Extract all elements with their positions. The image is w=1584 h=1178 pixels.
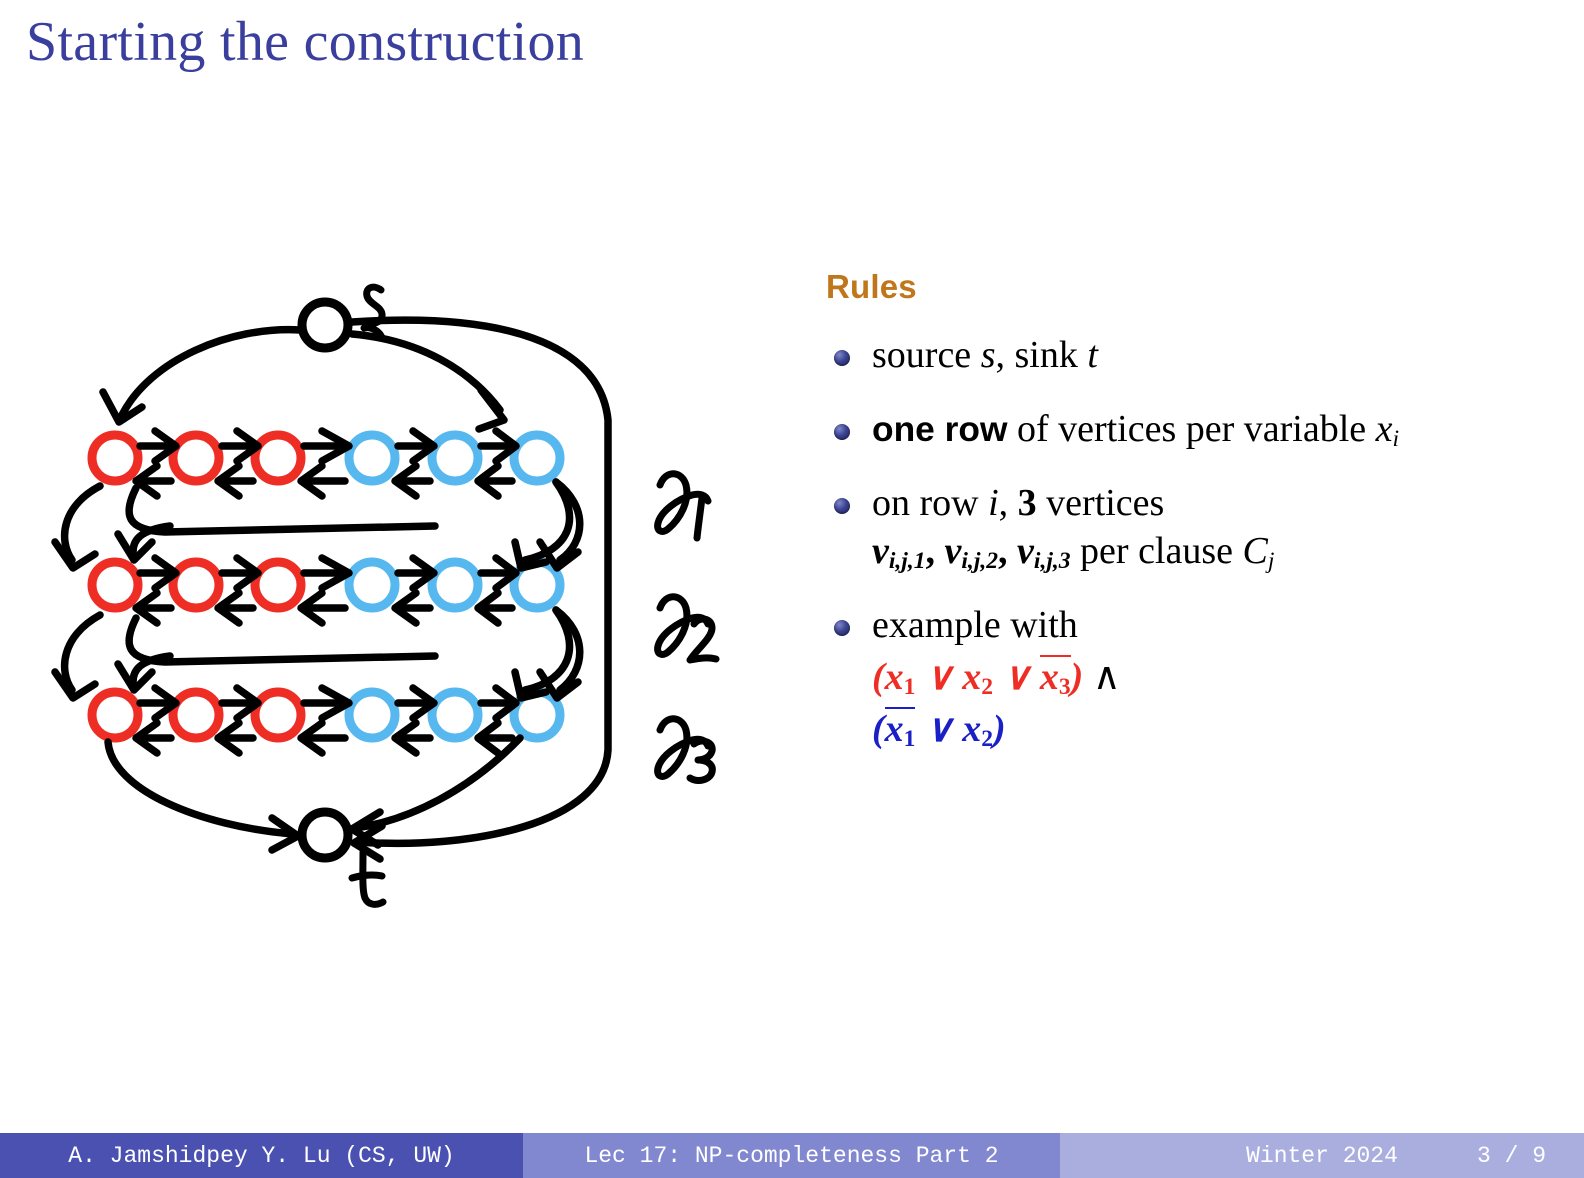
rule-text-one-row-rest: of vertices per variable	[1007, 408, 1375, 450]
symbol-v-1-subscript: i,j,1	[889, 548, 926, 574]
row-label-x3	[658, 719, 713, 781]
rule-item-one-row: one row of vertices per variable xi	[872, 406, 1506, 455]
rule-count-three: 3	[1018, 482, 1037, 524]
symbol-x: x	[1376, 408, 1393, 450]
formula-x2-b-subscript: 2	[981, 727, 993, 753]
edge-row1-to-row2-left-inner	[118, 488, 435, 560]
symbol-v-2-subscript: i,j,2	[961, 548, 998, 574]
row-3	[92, 688, 560, 753]
vertex-r1-c3	[255, 435, 301, 481]
formula-x1-neg-subscript: 1	[904, 727, 916, 753]
symbol-v-3-subscript: i,j,3	[1034, 548, 1071, 574]
rule-item-row-vertices: on row i, 3 vertices vi,j,1, vi,j,2, vi,…	[872, 480, 1506, 576]
formula-clause-1: (x1 ∨ x2 ∨ x3) ∧	[872, 654, 1506, 703]
footer-authors: A. Jamshidpey Y. Lu (CS, UW)	[0, 1133, 523, 1178]
row-label-x1	[658, 474, 708, 538]
rule-text-example-lead: example with	[872, 604, 1078, 646]
rule-sep-2: ,	[998, 530, 1017, 572]
source-label	[364, 287, 382, 338]
bullet-icon	[834, 620, 850, 636]
row-2	[92, 558, 560, 623]
vertex-r3-c5	[432, 692, 478, 738]
bullet-icon	[834, 498, 850, 514]
footer-right-section: Winter 2024 3 / 9	[1060, 1133, 1584, 1178]
symbol-x-subscript: i	[1393, 426, 1400, 452]
rule-text-comma: ,	[999, 482, 1018, 524]
symbol-C-subscript: j	[1268, 548, 1275, 574]
vertex-r1-c1	[92, 435, 138, 481]
vertex-r1-c4	[349, 435, 395, 481]
symbol-i: i	[988, 482, 999, 524]
symbol-v-3: v	[1017, 530, 1034, 572]
formula-x3: x	[1040, 656, 1059, 698]
rule-sep-1: ,	[926, 530, 945, 572]
formula-or-2: ∨	[993, 656, 1040, 698]
edge-source-to-row1-left	[103, 330, 300, 422]
formula-open-paren-2: (	[872, 708, 885, 750]
vertex-r1-c2	[173, 435, 219, 481]
formula-close-paren-1: )	[1071, 656, 1084, 698]
formula-and-connective: ∧	[1083, 656, 1120, 698]
edge-row1-to-row2-left-outer	[55, 486, 100, 568]
symbol-C: C	[1243, 530, 1268, 572]
symbol-v-2: v	[945, 530, 962, 572]
symbol-v-1: v	[872, 530, 889, 572]
vertex-r3-c1	[92, 692, 138, 738]
row-label-x2	[658, 597, 716, 660]
formula-x1-neg: x	[885, 708, 904, 750]
formula-or-3: ∨	[915, 708, 962, 750]
rule-text-vertices: vertices	[1037, 482, 1165, 524]
formula-x3-subscript: 3	[1059, 674, 1071, 700]
formula-open-paren-1: (	[872, 656, 885, 698]
vertex-r1-c6	[514, 435, 560, 481]
edge-row2-to-row3-left-inner	[118, 618, 435, 690]
vertex-r2-c1	[92, 562, 138, 608]
graph-svg: .ed { fill:none; stroke:#000; stroke-wid…	[0, 230, 800, 930]
rule-text-per-clause: per clause	[1071, 530, 1243, 572]
node-source	[302, 302, 348, 348]
row-1	[92, 431, 560, 496]
rules-list: source s, sink t one row of vertices per…	[826, 332, 1506, 755]
slide-root: Starting the construction .ed { fill:non…	[0, 0, 1584, 1178]
formula-x2-b: x	[962, 708, 981, 750]
rule-text-on-row: on row	[872, 482, 988, 524]
formula-or-1: ∨	[915, 656, 962, 698]
slide-footer: A. Jamshidpey Y. Lu (CS, UW) Lec 17: NP-…	[0, 1133, 1584, 1178]
rule-text-source-prefix: source	[872, 334, 981, 376]
formula-x2: x	[962, 656, 981, 698]
construction-graph-diagram: .ed { fill:none; stroke:#000; stroke-wid…	[0, 230, 800, 930]
formula-negation-bar-x3: x3	[1040, 655, 1071, 700]
formula-x1: x	[885, 656, 904, 698]
vertex-r2-c4	[349, 562, 395, 608]
rule-text-sink-mid: , sink	[995, 334, 1087, 376]
symbol-t: t	[1087, 334, 1098, 376]
footer-page-number: 3 / 9	[1477, 1143, 1546, 1169]
symbol-s: s	[981, 334, 996, 376]
edge-row3-left-to-sink	[108, 742, 298, 850]
edge-source-to-row1-right	[352, 334, 504, 429]
vertex-r3-c3	[255, 692, 301, 738]
footer-lecture-title: Lec 17: NP-completeness Part 2	[523, 1133, 1060, 1178]
node-sink	[302, 812, 348, 858]
vertex-r2-c5	[432, 562, 478, 608]
footer-term: Winter 2024	[1246, 1143, 1398, 1169]
rule-item-source-sink: source s, sink t	[872, 332, 1506, 380]
vertex-r3-c4	[349, 692, 395, 738]
vertex-r2-c2	[173, 562, 219, 608]
vertex-r1-c5	[432, 435, 478, 481]
page-title: Starting the construction	[26, 12, 584, 74]
rules-panel: Rules source s, sink t one row of vertic…	[826, 268, 1506, 755]
vertex-r2-c3	[255, 562, 301, 608]
formula-clause-2: (x1 ∨ x2)	[872, 706, 1506, 755]
rule-item-example: example with (x1 ∨ x2 ∨ x3) ∧ (x1 ∨ x2)	[872, 602, 1506, 755]
rules-heading: Rules	[826, 268, 1506, 306]
vertex-r3-c2	[173, 692, 219, 738]
formula-x1-subscript: 1	[904, 674, 916, 700]
formula-negation-bar-x1: x1	[885, 707, 916, 752]
rule-emphasis-one-row: one row	[872, 410, 1007, 449]
formula-x2-subscript: 2	[981, 674, 993, 700]
bullet-icon	[834, 350, 850, 366]
edge-row2-to-row3-left-outer	[55, 615, 100, 698]
formula-close-paren-2: )	[993, 708, 1006, 750]
bullet-icon	[834, 424, 850, 440]
